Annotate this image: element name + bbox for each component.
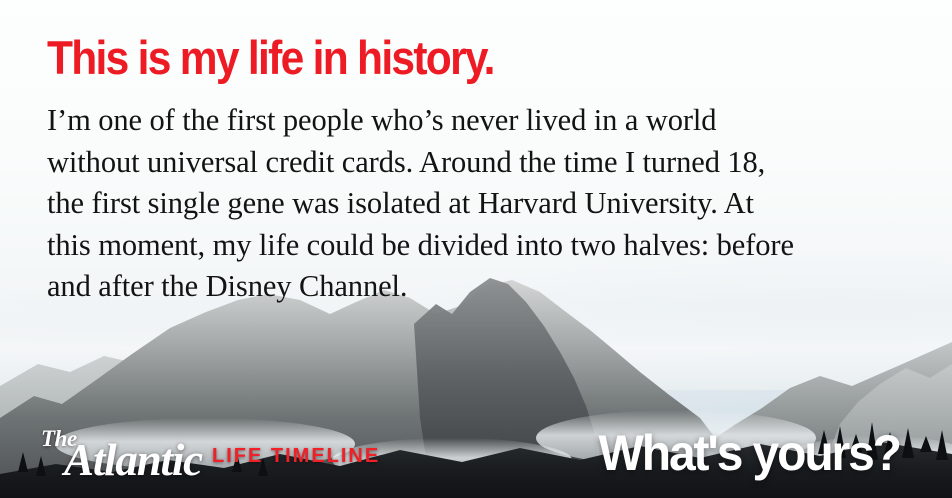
- body-line: without universal credit cards. Around t…: [47, 142, 917, 184]
- logo-word-atlantic: Atlantic: [64, 434, 202, 486]
- call-to-action[interactable]: What's yours?: [599, 424, 900, 482]
- body-copy: I’m one of the first people who’s never …: [47, 100, 917, 308]
- body-line: I’m one of the first people who’s never …: [47, 100, 917, 142]
- logo-word-the: The: [41, 426, 77, 452]
- section-label-life-timeline: LIFE TIMELINE: [212, 445, 380, 468]
- life-timeline-card: This is my life in history. I’m one of t…: [0, 0, 952, 498]
- brand-lockup[interactable]: The Atlantic LIFE TIMELINE: [40, 426, 380, 478]
- body-line: the first single gene was isolated at Ha…: [47, 183, 917, 225]
- body-line: this moment, my life could be divided in…: [47, 225, 917, 267]
- the-atlantic-logo[interactable]: The Atlantic: [40, 426, 208, 478]
- body-line: and after the Disney Channel.: [47, 266, 917, 308]
- text-block: This is my life in history. I’m one of t…: [47, 34, 927, 308]
- headline: This is my life in history.: [47, 34, 843, 81]
